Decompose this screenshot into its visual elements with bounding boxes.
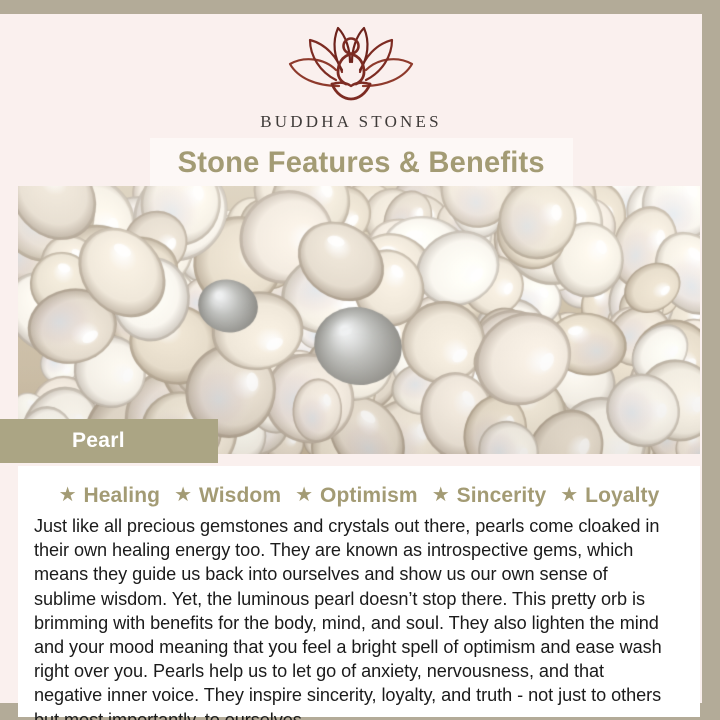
benefit-label: Healing bbox=[84, 484, 161, 508]
benefit-label: Sincerity bbox=[457, 484, 547, 508]
star-icon: ★ bbox=[432, 485, 450, 505]
brand-name: BUDDHA STONES bbox=[0, 112, 702, 132]
benefit-item: ★Loyalty bbox=[560, 484, 659, 508]
page-title: Stone Features & Benefits bbox=[178, 146, 545, 180]
pearl-photo-canvas bbox=[18, 186, 700, 454]
benefit-label: Loyalty bbox=[585, 484, 659, 508]
benefit-label: Wisdom bbox=[199, 484, 281, 508]
star-icon: ★ bbox=[295, 485, 313, 505]
benefit-item: ★Optimism bbox=[295, 484, 418, 508]
benefit-item: ★Sincerity bbox=[432, 484, 547, 508]
benefit-item: ★Healing bbox=[59, 484, 161, 508]
star-icon: ★ bbox=[59, 485, 77, 505]
benefits-row: ★Healing★Wisdom★Optimism★Sincerity★Loyal… bbox=[34, 484, 684, 508]
title-banner: Stone Features & Benefits bbox=[150, 138, 573, 188]
benefit-item: ★Wisdom bbox=[174, 484, 281, 508]
star-icon: ★ bbox=[560, 485, 578, 505]
description-text: Just like all precious gemstones and cry… bbox=[34, 514, 674, 720]
benefit-label: Optimism bbox=[320, 484, 418, 508]
card-surface: BUDDHA STONES Stone Features & Benefits … bbox=[0, 14, 702, 703]
pearl-photo bbox=[18, 186, 700, 454]
infographic-card: BUDDHA STONES Stone Features & Benefits … bbox=[0, 0, 720, 720]
lotus-meditation-icon bbox=[276, 20, 426, 110]
star-icon: ★ bbox=[174, 485, 192, 505]
brand-logo-block: BUDDHA STONES bbox=[0, 20, 702, 132]
stone-name-label: Pearl bbox=[72, 429, 125, 453]
stone-name-bar: Pearl bbox=[0, 419, 218, 463]
description-panel: ★Healing★Wisdom★Optimism★Sincerity★Loyal… bbox=[18, 466, 700, 717]
